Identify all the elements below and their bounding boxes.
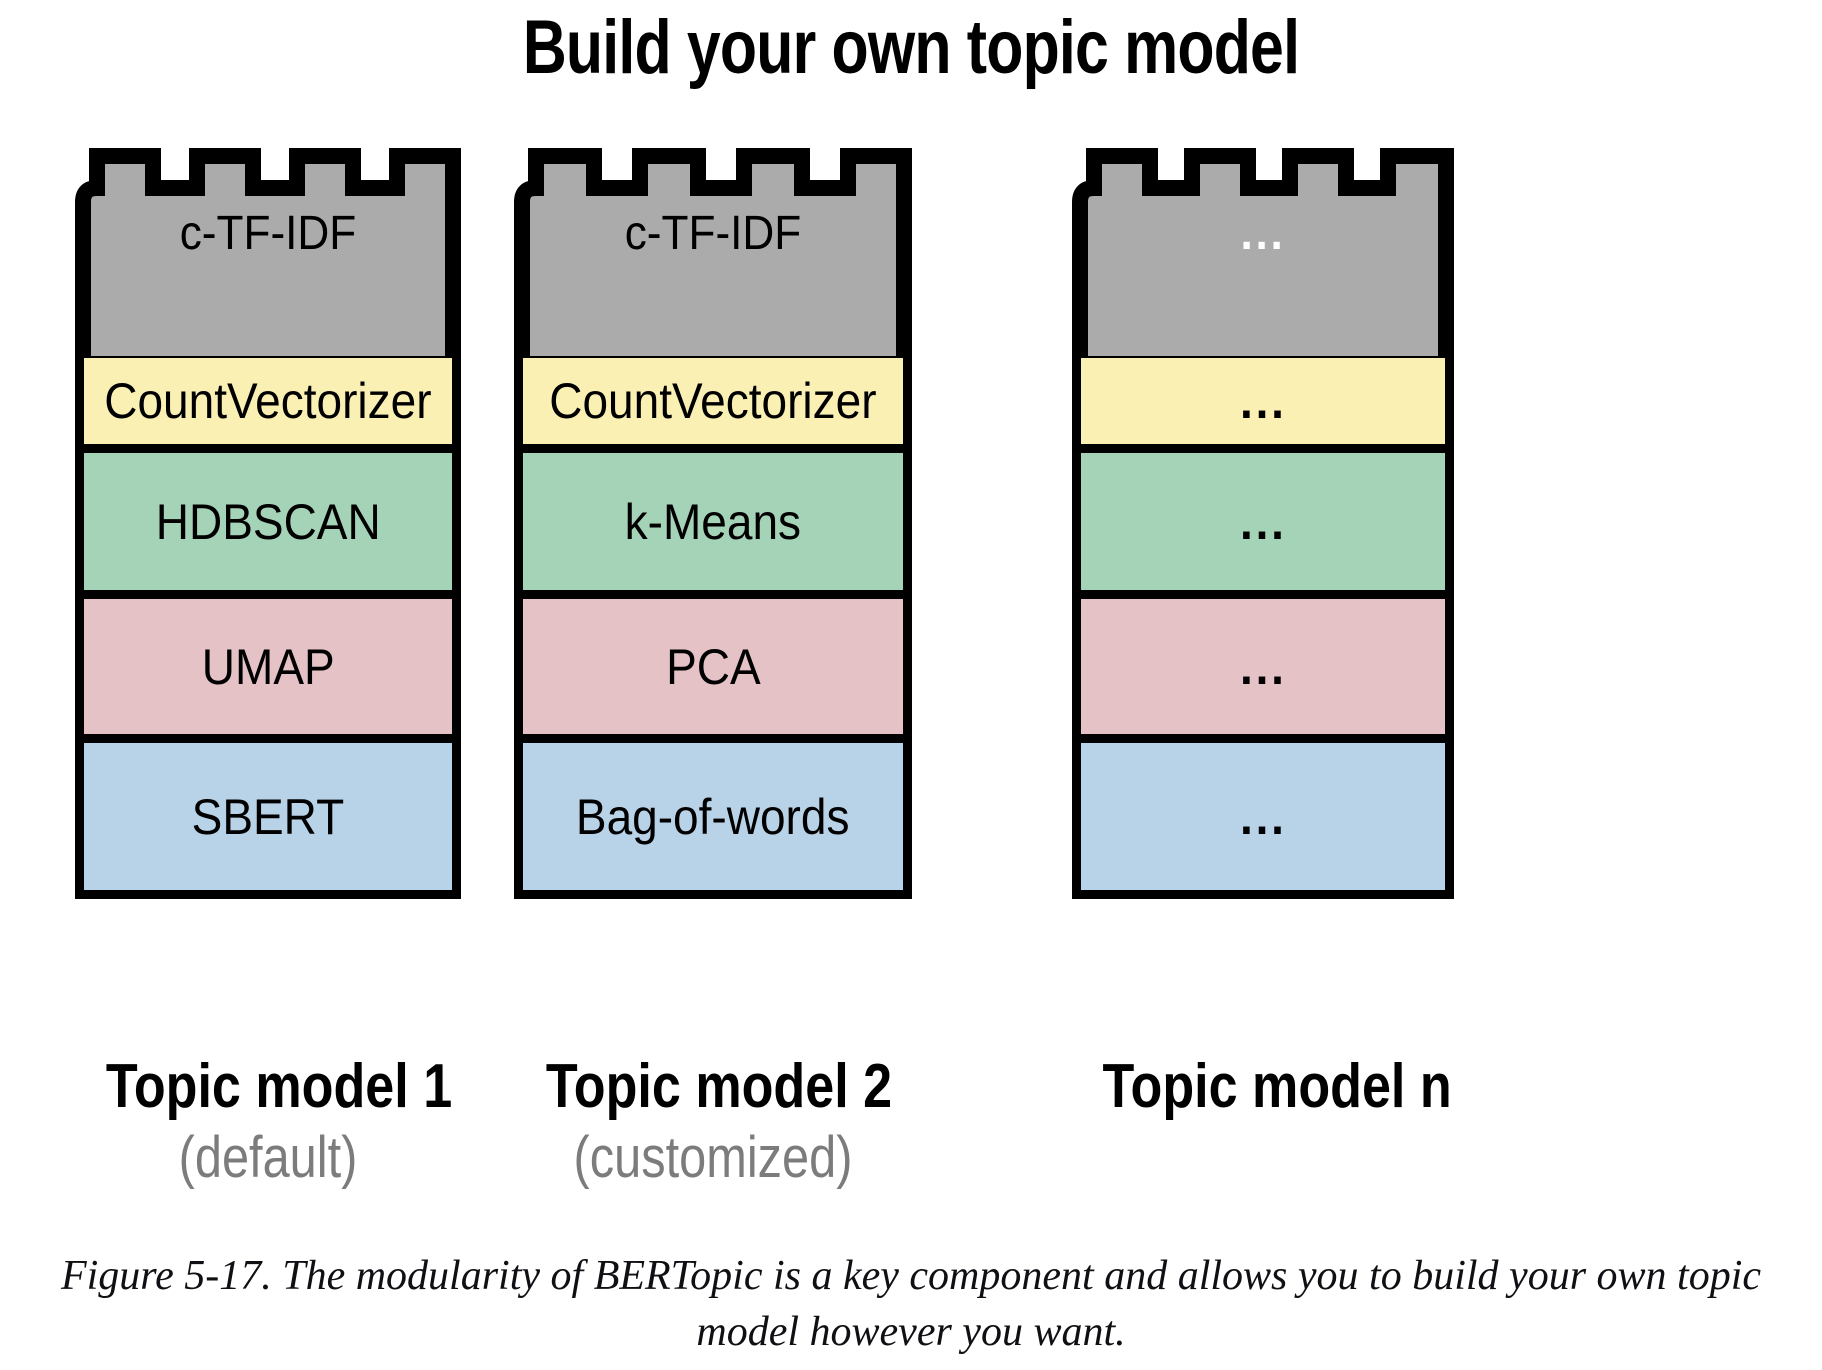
tower-3-brick-cluster-label: ... xyxy=(1240,494,1287,550)
tower-2-brick-kmeans-label: k-Means xyxy=(625,494,801,550)
tower-1-brick-umap-label: UMAP xyxy=(202,639,335,695)
tower-3-brick-vectorizer-label: ... xyxy=(1240,373,1287,429)
tower-2-caption-main: Topic model 2 xyxy=(546,1050,880,1124)
tower-2-brick-stack: CountVectorizer k-Means PCA Bag-of-words xyxy=(514,358,912,899)
tower-1-brick-countvectorizer[interactable]: CountVectorizer xyxy=(84,358,452,453)
tower-2-brick-pca[interactable]: PCA xyxy=(523,599,903,743)
tower-3-brick-stack: ... ... ... ... xyxy=(1072,358,1454,899)
tower-2-brick-bag-of-words-label: Bag-of-words xyxy=(576,789,850,845)
tower-1-brick-sbert[interactable]: SBERT xyxy=(84,743,452,890)
tower-1-brick-sbert-label: SBERT xyxy=(192,789,345,845)
tower-3-cap-label: ... xyxy=(1087,206,1438,262)
tower-2-caption: Topic model 2 (customized) xyxy=(514,1050,912,1192)
tower-2-brick-countvectorizer-label: CountVectorizer xyxy=(549,373,876,429)
tower-3-brick-embedding-label: ... xyxy=(1240,789,1287,845)
tower-1-cap-label: c-TF-IDF xyxy=(90,206,445,262)
tower-1-brick-umap[interactable]: UMAP xyxy=(84,599,452,743)
tower-2-brick-pca-label: PCA xyxy=(666,639,761,695)
tower-1-caption: Topic model 1 (default) xyxy=(75,1050,461,1192)
tower-3-caption-main: Topic model n xyxy=(1103,1050,1424,1124)
tower-1-brick-countvectorizer-label: CountVectorizer xyxy=(104,373,431,429)
tower-1-brick-stack: CountVectorizer HDBSCAN UMAP SBERT xyxy=(75,358,461,899)
tower-3-brick-embedding-placeholder[interactable]: ... xyxy=(1081,743,1445,890)
tower-2-brick-bag-of-words[interactable]: Bag-of-words xyxy=(523,743,903,890)
tower-1-caption-main: Topic model 1 xyxy=(106,1050,430,1124)
tower-2-caption-sub: (customized) xyxy=(546,1124,880,1192)
tower-3-brick-cluster-placeholder[interactable]: ... xyxy=(1081,453,1445,599)
topic-model-diagram: c-TF-IDF CountVectorizer HDBSCAN UMAP SB… xyxy=(0,0,1822,1230)
tower-3-brick-dimreduction-label: ... xyxy=(1240,639,1287,695)
tower-3-brick-vectorizer-placeholder[interactable]: ... xyxy=(1081,358,1445,453)
tower-2-cap-label: c-TF-IDF xyxy=(530,206,896,262)
tower-3-brick-dimreduction-placeholder[interactable]: ... xyxy=(1081,599,1445,743)
figure-caption: Figure 5-17. The modularity of BERTopic … xyxy=(30,1248,1792,1360)
tower-2-brick-countvectorizer[interactable]: CountVectorizer xyxy=(523,358,903,453)
tower-1-caption-sub: (default) xyxy=(106,1124,430,1192)
tower-1-brick-hdbscan[interactable]: HDBSCAN xyxy=(84,453,452,599)
tower-1-brick-hdbscan-label: HDBSCAN xyxy=(156,494,381,550)
tower-2-brick-kmeans[interactable]: k-Means xyxy=(523,453,903,599)
tower-3-caption: Topic model n xyxy=(1072,1050,1454,1124)
